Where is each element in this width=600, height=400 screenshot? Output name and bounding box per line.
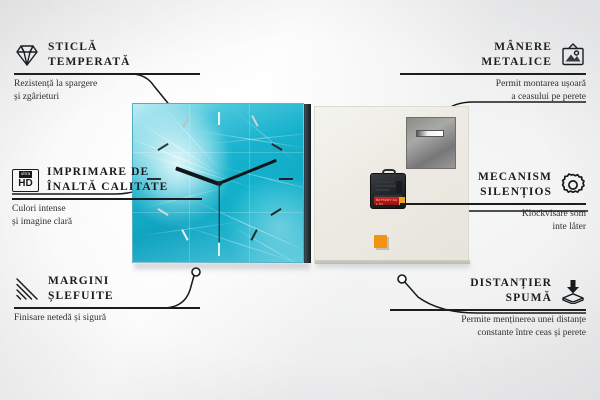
tick-12 xyxy=(218,112,220,125)
callout-rule xyxy=(390,309,586,311)
callout-title: DISTANȚIER SPUMĂ xyxy=(470,276,552,306)
back-panel-edge xyxy=(315,260,470,264)
callout-manere-metalice: MÂNERE METALICE Permit montarea ușoară a… xyxy=(396,40,586,104)
ultra-hd-icon-small-text: ultra xyxy=(19,171,33,178)
callout-rule xyxy=(400,203,586,205)
callout-title: MARGINI ȘLEFUITE xyxy=(48,274,114,304)
callout-imprimare-hd: ultra HD IMPRIMARE DE ÎNALTĂ CALITATE Cu… xyxy=(12,165,208,229)
hatched-edge-icon xyxy=(14,276,40,302)
hanger-keyhole-slot xyxy=(416,130,444,137)
ultra-hd-icon: ultra HD xyxy=(12,169,39,192)
callout-subtitle: Permite menținerea unei distanțe constan… xyxy=(386,314,586,340)
callout-sticla-temperata: STICLĂ TEMPERATĂ Rezistență la spargere … xyxy=(14,40,204,104)
mechanism-hook xyxy=(382,169,396,175)
diamond-icon xyxy=(14,42,40,68)
callout-subtitle: Permit montarea ușoară a ceasului pe per… xyxy=(396,78,586,104)
callout-title: MECANISM SILENȚIOS xyxy=(478,170,552,200)
callout-mecanism-silentios: MECANISM SILENȚIOS Klockvisare som inte … xyxy=(396,170,586,234)
callout-distantier-spuma: DISTANȚIER SPUMĂ Permite menținerea unei… xyxy=(386,276,586,340)
tick-3 xyxy=(279,178,293,180)
callout-rule xyxy=(14,307,200,309)
callout-title: IMPRIMARE DE ÎNALTĂ CALITATE xyxy=(47,165,168,195)
mechanism-ridge xyxy=(375,181,393,183)
hanging-frame-icon xyxy=(560,42,586,68)
callout-subtitle: Klockvisare som inte låter xyxy=(396,208,586,234)
metal-hanger-plate xyxy=(406,117,456,169)
callout-subtitle: Rezistență la spargere și zgârieturi xyxy=(14,78,204,104)
callout-subtitle: Finisare netedă și sigură xyxy=(14,312,204,325)
callout-rule xyxy=(14,73,200,75)
tick-6 xyxy=(218,243,220,256)
callout-margini-slefuite: MARGINI ȘLEFUITE Finisare netedă și sigu… xyxy=(14,274,204,325)
callout-rule xyxy=(12,198,202,200)
mechanism-ridge xyxy=(375,185,397,187)
press-down-pad-icon xyxy=(560,278,586,304)
second-hand xyxy=(218,184,219,242)
callout-rule xyxy=(400,73,586,75)
callout-subtitle: Culori intense și imagine clară xyxy=(12,203,208,229)
callout-title: MÂNERE METALICE xyxy=(481,40,552,70)
callout-title: STICLĂ TEMPERATĂ xyxy=(48,40,131,70)
foam-spacer-pad xyxy=(374,235,387,248)
gear-icon xyxy=(560,172,586,198)
infographic-canvas: BATTERY AA 1.5V xyxy=(0,0,600,400)
ultra-hd-icon-large-text: HD xyxy=(18,179,32,189)
mechanism-ridge xyxy=(375,189,389,191)
clock-shadow xyxy=(134,263,310,272)
hands-hub xyxy=(217,181,222,186)
